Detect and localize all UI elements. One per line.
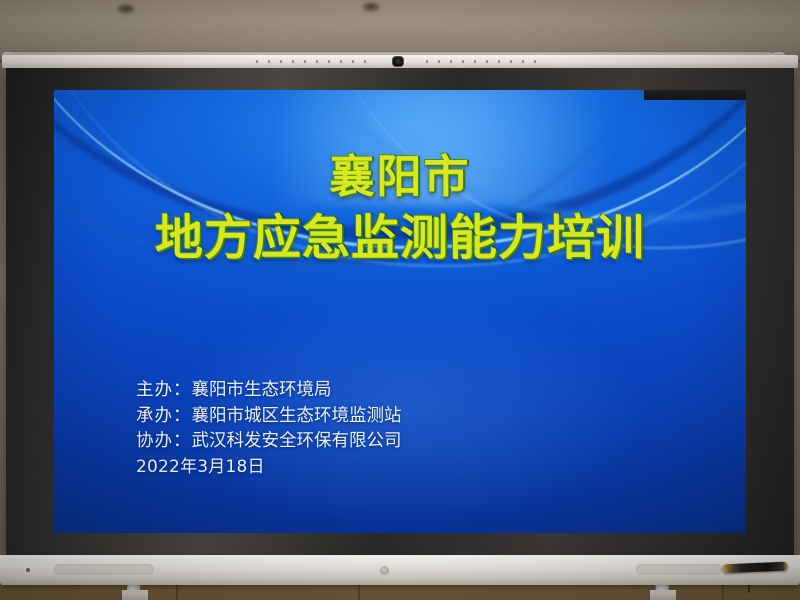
credit-label: 协办： xyxy=(136,431,192,451)
slide-date: 2022年3月18日 xyxy=(136,455,402,480)
credit-row: 主办：襄阳市生态环境局 xyxy=(136,378,402,404)
microphone-array-icon xyxy=(256,60,376,63)
camera-icon xyxy=(392,56,404,67)
microphone-array-icon xyxy=(426,60,546,63)
credit-value: 襄阳市城区生态环境监测站 xyxy=(192,406,402,426)
credit-label: 承办： xyxy=(136,406,192,426)
stylus-pen[interactable] xyxy=(722,562,788,574)
slide-title-line-1: 襄阳市 xyxy=(54,140,746,205)
ceiling-light-icon xyxy=(363,3,379,11)
display-stand-foot xyxy=(122,590,148,600)
display-bottom-bezel xyxy=(0,555,800,585)
photo-scene: BNXA-QBNO | 襄阳市 地方应急监测能力培训 主办：襄阳市生态环境局 xyxy=(0,0,800,600)
speaker-grille xyxy=(636,564,722,575)
display-stand-foot xyxy=(650,590,676,600)
slide-credits: 主办：襄阳市生态环境局 承办：襄阳市城区生态环境监测站 协办：武汉科发安全环保有… xyxy=(136,378,402,480)
credit-row: 承办：襄阳市城区生态环境监测站 xyxy=(136,404,402,430)
power-button[interactable] xyxy=(380,566,389,575)
credit-label: 主办： xyxy=(136,380,192,400)
slide-title-line-2: 地方应急监测能力培训 xyxy=(54,198,746,268)
display-screen[interactable]: BNXA-QBNO | 襄阳市 地方应急监测能力培训 主办：襄阳市生态环境局 xyxy=(54,90,746,533)
ceiling-light-icon xyxy=(118,5,134,13)
speaker-grille xyxy=(54,564,154,575)
credit-value: 武汉科发安全环保有限公司 xyxy=(192,431,402,451)
credit-row: 协办：武汉科发安全环保有限公司 xyxy=(136,429,402,455)
status-led-icon xyxy=(26,568,30,572)
interactive-flat-panel[interactable]: BNXA-QBNO | 襄阳市 地方应急监测能力培训 主办：襄阳市生态环境局 xyxy=(6,66,794,561)
credit-value: 襄阳市生态环境局 xyxy=(192,380,332,400)
status-bar: BNXA-QBNO | xyxy=(644,90,746,100)
